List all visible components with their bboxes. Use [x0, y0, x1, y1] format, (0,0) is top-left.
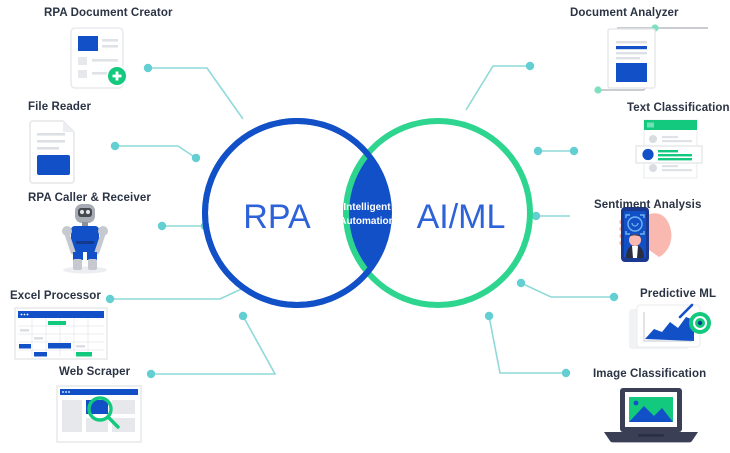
laptop-image-icon	[604, 388, 698, 442]
document-plus-icon	[71, 28, 128, 88]
label-file-reader: File Reader	[28, 101, 91, 113]
label-rpa-document-creator: RPA Document Creator	[44, 7, 173, 19]
label-rpa-caller-receiver: RPA Caller & Receiver	[28, 192, 151, 204]
list-classify-icon	[636, 120, 702, 178]
file-document-icon	[30, 121, 74, 183]
spreadsheet-icon	[15, 308, 107, 359]
label-text-classification: Text Classification	[627, 102, 730, 114]
label-sentiment-analysis: Sentiment Analysis	[594, 199, 701, 211]
diagram-canvas: RPA AI/ML Intelligent Automation	[0, 0, 730, 453]
label-document-analyzer: Document Analyzer	[570, 7, 679, 19]
browser-magnifier-icon	[57, 386, 141, 442]
icon-layer	[0, 0, 730, 453]
label-excel-processor: Excel Processor	[10, 290, 101, 302]
chart-target-icon	[629, 305, 711, 349]
phone-face-scan-icon	[621, 207, 671, 262]
label-web-scraper: Web Scraper	[59, 366, 130, 378]
label-predictive-ml: Predictive ML	[640, 288, 716, 300]
document-analysis-icon	[594, 24, 708, 93]
robot-icon	[62, 204, 108, 274]
label-image-classification: Image Classification	[593, 368, 706, 380]
